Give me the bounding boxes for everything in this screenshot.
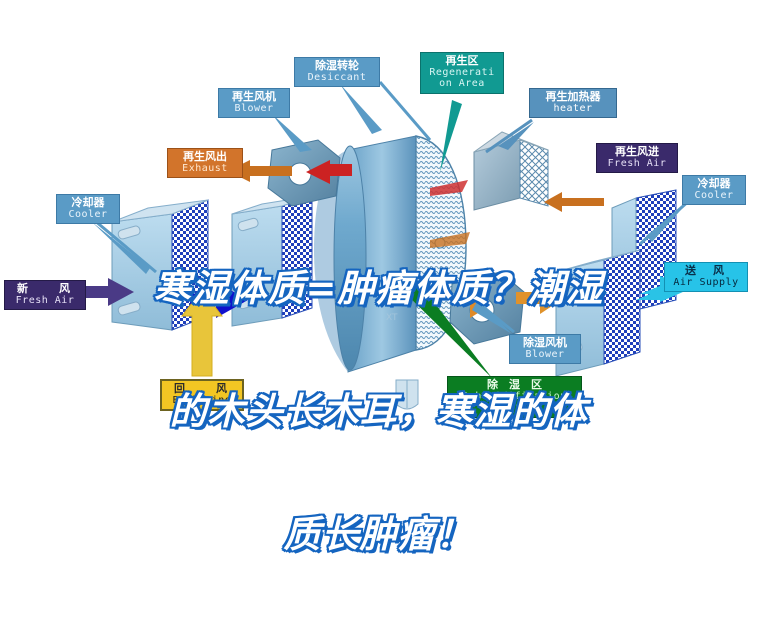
label-regeneration-blower-cn: 再生风机 [223,91,285,103]
overlay-headline-line1: 寒湿体质=肿瘤体质？潮湿 [28,268,729,309]
label-regeneration-fresh-air-in-cn: 再生风进 [601,146,673,158]
diagram-canvas: XT [0,0,757,488]
label-regeneration-exhaust: 再生风出 Exhaust [167,148,243,178]
label-desiccant-wheel: 除湿转轮 Desiccant [294,57,380,87]
label-regeneration-area-en-line1: Regenerati [425,68,499,79]
label-regeneration-area-en-line2: on Area [425,79,499,90]
overlay-headline-line3: 质长肿瘤！ [28,514,729,555]
overlay-headline-line2: 的木头长木耳，寒湿的体 [28,391,729,432]
label-regeneration-heater-cn: 再生加热器 [534,91,612,103]
label-regeneration-fresh-air-in-en: Fresh Air [601,159,673,170]
label-regeneration-exhaust-en: Exhaust [172,164,238,175]
label-regeneration-exhaust-cn: 再生风出 [172,151,238,163]
label-regeneration-area-cn: 再生区 [425,55,499,67]
label-regeneration-area: 再生区 Regenerati on Area [420,52,504,94]
label-regeneration-blower-en: Blower [223,104,285,115]
leader-regen-area [440,100,462,172]
label-regeneration-fresh-air-in: 再生风进 Fresh Air [596,143,678,173]
leader-desiccant [340,84,382,134]
label-desiccant-wheel-cn: 除湿转轮 [299,60,375,72]
label-regeneration-blower: 再生风机 Blower [218,88,290,118]
label-regeneration-heater: 再生加热器 heater [529,88,617,118]
label-regeneration-heater-en: heater [534,104,612,115]
overlay-headline: 寒湿体质=肿瘤体质？潮湿 的木头长木耳，寒湿的体 质长肿瘤！ [0,186,757,637]
label-desiccant-wheel-en: Desiccant [299,73,375,84]
